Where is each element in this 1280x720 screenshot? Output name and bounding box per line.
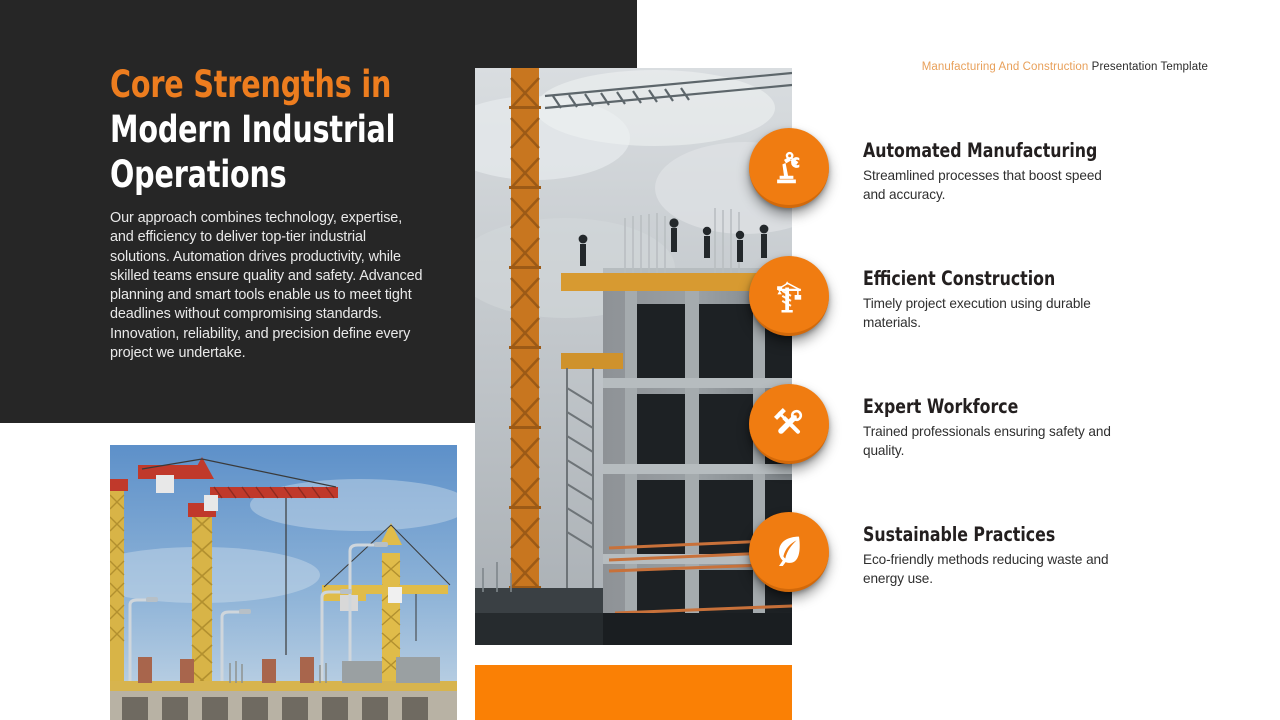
feature-title: Sustainable Practices — [863, 523, 1133, 547]
feature-item-sustainable-practices[interactable]: Sustainable Practices Eco-friendly metho… — [749, 512, 1229, 640]
feature-description: Timely project execution using durable m… — [863, 295, 1115, 332]
leaf-icon — [749, 512, 829, 592]
feature-title: Automated Manufacturing — [863, 139, 1133, 163]
feature-description: Streamlined processes that boost speed a… — [863, 167, 1115, 204]
eyebrow-plain-text: Presentation Template — [1092, 61, 1208, 73]
tower-cranes-photo — [110, 445, 457, 720]
orange-accent-block — [475, 665, 792, 720]
feature-list: Automated Manufacturing Streamlined proc… — [749, 128, 1229, 640]
feature-item-efficient-construction[interactable]: Efficient Construction Timely project ex… — [749, 256, 1229, 384]
title-line-2: Modern Industrial — [110, 107, 394, 152]
hammer-wrench-icon — [749, 384, 829, 464]
page-title: Core Strengths in Modern Industrial Oper… — [110, 62, 440, 197]
eyebrow-accent-text: Manufacturing And Construction — [922, 61, 1089, 73]
feature-description: Trained professionals ensuring safety an… — [863, 423, 1115, 460]
feature-item-expert-workforce[interactable]: Expert Workforce Trained professionals e… — [749, 384, 1229, 512]
feature-text-block: Sustainable Practices Eco-friendly metho… — [863, 523, 1163, 588]
feature-text-block: Efficient Construction Timely project ex… — [863, 267, 1163, 332]
feature-text-block: Expert Workforce Trained professionals e… — [863, 395, 1163, 460]
body-paragraph: Our approach combines technology, expert… — [110, 209, 428, 363]
feature-title: Expert Workforce — [863, 395, 1133, 419]
construction-building-photo — [475, 68, 792, 645]
slide-canvas: Manufacturing And Construction Presentat… — [0, 0, 1280, 720]
feature-item-automated-manufacturing[interactable]: Automated Manufacturing Streamlined proc… — [749, 128, 1229, 256]
tower-crane-icon — [749, 256, 829, 336]
feature-description: Eco-friendly methods reducing waste and … — [863, 551, 1115, 588]
feature-text-block: Automated Manufacturing Streamlined proc… — [863, 139, 1163, 204]
title-line-1: Core Strengths in — [110, 62, 394, 107]
feature-title: Efficient Construction — [863, 267, 1133, 291]
robot-arm-icon — [749, 128, 829, 208]
header-eyebrow: Manufacturing And Construction Presentat… — [922, 61, 1208, 73]
title-line-3: Operations — [110, 152, 394, 197]
